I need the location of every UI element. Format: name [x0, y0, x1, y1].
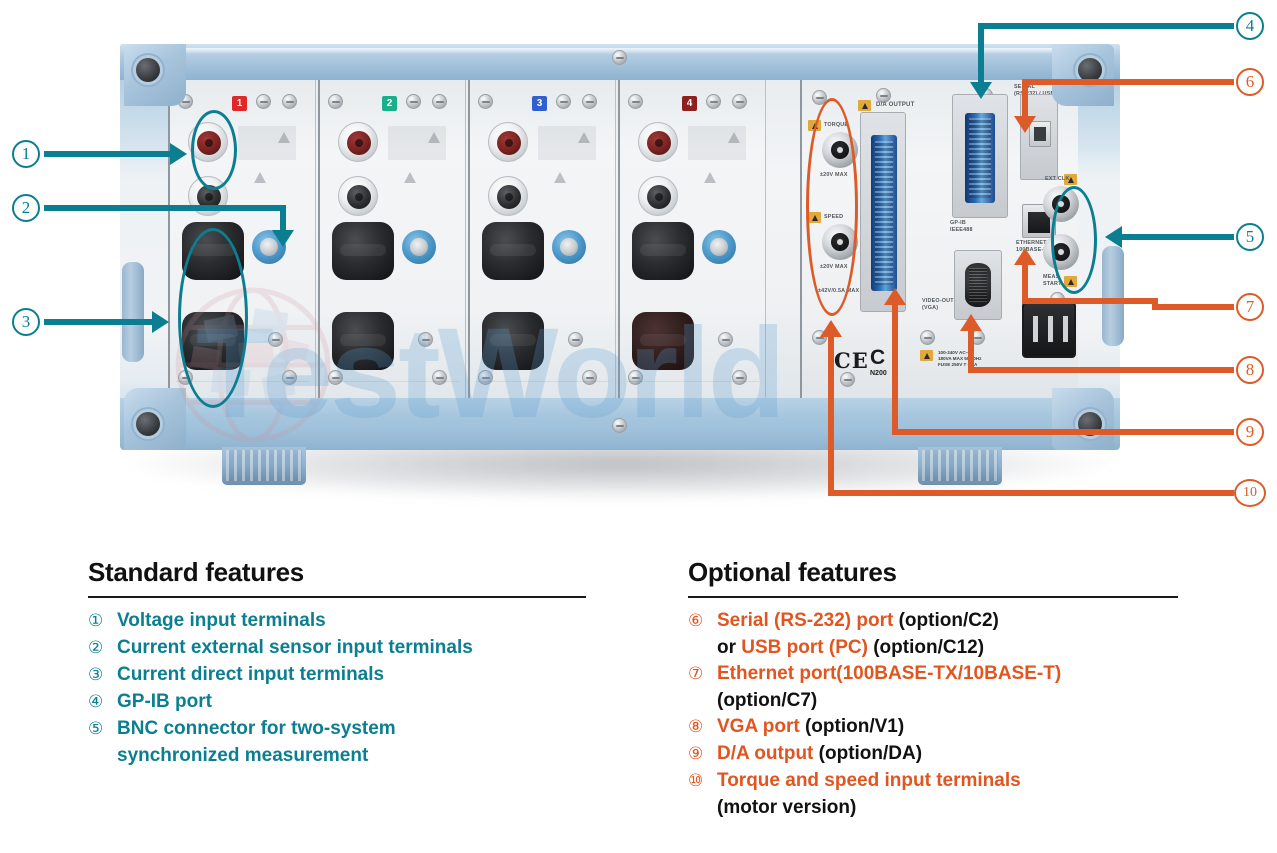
- screw-icon: [478, 370, 493, 385]
- current-direct-input-lo-2: [332, 312, 394, 370]
- leader-line-2a: [44, 205, 286, 211]
- warning-triangle-icon: [428, 132, 440, 143]
- screw-icon: [628, 370, 643, 385]
- list-opt-8: (option/V1): [800, 716, 904, 737]
- leader-arrow-4: [970, 82, 992, 99]
- leader-line-8b: [968, 330, 974, 373]
- callout-2: 2: [12, 194, 40, 222]
- screw-icon: [732, 370, 747, 385]
- list-item[interactable]: ⑩ Torque and speed input terminals: [688, 768, 1188, 794]
- callout-8: 8: [1236, 356, 1264, 384]
- highlight-ellipse-voltage: [191, 110, 237, 190]
- warning-triangle-icon: [404, 172, 416, 183]
- current-external-sensor-input-4: [702, 230, 736, 264]
- list-opt-6: (option/C2): [893, 610, 999, 631]
- caution-icon: [920, 350, 933, 361]
- list-marker-10: ⑩: [688, 768, 712, 794]
- chassis-handle-right: [1102, 246, 1124, 346]
- warning-triangle-icon: [704, 172, 716, 183]
- corner-screw-icon: [136, 58, 160, 82]
- leader-line-4b: [978, 23, 984, 85]
- ce-mark: CE: [834, 348, 869, 373]
- highlight-ellipse-torque-speed: [806, 98, 858, 316]
- list-text-6-pre: or: [717, 637, 741, 658]
- list-opt-6-usb: (option/C12): [868, 637, 984, 658]
- leader-line-7a: [1152, 304, 1234, 310]
- screw-icon: [840, 372, 855, 387]
- leader-arrow-7: [1014, 248, 1036, 265]
- callout-6: 6: [1236, 68, 1264, 96]
- leader-line-1: [44, 151, 172, 157]
- current-external-sensor-input-2: [402, 230, 436, 264]
- instrument-photo: 1 2: [0, 0, 1277, 545]
- leader-arrow-9: [884, 288, 906, 305]
- screw-icon: [582, 94, 597, 109]
- optional-features-column: Optional features ⑥ Serial (RS-232) port…: [688, 557, 1188, 821]
- leader-arrow-8: [960, 314, 982, 331]
- leader-arrow-3: [152, 311, 169, 333]
- voltage-terminal-lo-3: [488, 176, 528, 216]
- list-item[interactable]: ⑤ BNC connector for two-system: [88, 716, 588, 742]
- list-item[interactable]: ⑧ VGA port (option/V1): [688, 714, 1188, 740]
- chassis-handle-left: [122, 262, 144, 362]
- leader-line-7c: [1022, 298, 1158, 304]
- chassis-foot-left: [222, 447, 306, 485]
- channel-module-4: 4: [618, 80, 766, 398]
- list-item[interactable]: ② Current external sensor input terminal…: [88, 635, 588, 661]
- list-text-3: Current direct input terminals: [117, 662, 588, 688]
- voltage-terminal-hi-2: [338, 122, 378, 162]
- features-legend: Standard features ① Voltage input termin…: [0, 545, 1277, 853]
- leader-line-10a: [828, 490, 1234, 496]
- list-text-8: VGA port: [717, 716, 800, 737]
- channel-badge-2: 2: [382, 96, 397, 111]
- list-text-7: Ethernet port(100BASE-TX/10BASE-T): [717, 661, 1188, 687]
- voltage-terminal-lo-2: [338, 176, 378, 216]
- list-item[interactable]: ① Voltage input terminals: [88, 608, 588, 634]
- ext-clk-label: EXT CLK: [1045, 176, 1069, 183]
- da-output-connector: [860, 112, 906, 312]
- screw-icon: [876, 88, 891, 103]
- channel-badge-4: 4: [682, 96, 697, 111]
- callout-9: 9: [1236, 418, 1264, 446]
- channel-module-3: 3: [468, 80, 616, 398]
- callout-4: 4: [1236, 12, 1264, 40]
- list-opt-9: (option/DA): [813, 743, 922, 764]
- list-opt-7: (option/C7): [717, 688, 1188, 714]
- leader-line-2b: [280, 205, 286, 233]
- screw-icon: [628, 94, 643, 109]
- list-text-5: BNC connector for two-system: [117, 716, 588, 742]
- leader-line-7d: [1022, 264, 1028, 304]
- standard-features-column: Standard features ① Voltage input termin…: [88, 557, 588, 769]
- voltage-terminal-hi-4: [638, 122, 678, 162]
- list-text-6-usb: USB port (PC): [741, 637, 868, 658]
- list-marker-6: ⑥: [688, 608, 712, 634]
- voltage-terminal-lo-4: [638, 176, 678, 216]
- warning-triangle-icon: [728, 132, 740, 143]
- list-text-4: GP-IB port: [117, 689, 588, 715]
- current-direct-input-lo-4: [632, 312, 694, 370]
- callout-5: 5: [1236, 223, 1264, 251]
- list-marker-1: ①: [88, 608, 112, 634]
- callout-7: 7: [1236, 293, 1264, 321]
- screw-icon: [282, 370, 297, 385]
- list-marker-9: ⑨: [688, 741, 712, 767]
- chassis-corner-bottom-right: [1052, 388, 1114, 450]
- ctick-number: N200: [870, 370, 887, 377]
- screw-icon: [406, 94, 421, 109]
- list-text-6: Serial (RS-232) port: [717, 610, 893, 631]
- list-item[interactable]: ③ Current direct input terminals: [88, 662, 588, 688]
- screw-icon: [612, 50, 627, 65]
- chassis-corner-top-left: [124, 44, 186, 106]
- leader-arrow-10: [820, 320, 842, 337]
- screw-icon: [432, 94, 447, 109]
- screw-icon: [556, 94, 571, 109]
- warning-triangle-icon: [278, 132, 290, 143]
- callout-1: 1: [12, 140, 40, 168]
- current-external-sensor-input-3: [552, 230, 586, 264]
- leader-arrow-6: [1014, 116, 1036, 133]
- screw-icon: [478, 94, 493, 109]
- leader-arrow-1: [170, 143, 187, 165]
- leader-line-9b: [892, 304, 898, 435]
- list-item[interactable]: ⑥ Serial (RS-232) port (option/C2): [688, 608, 1188, 634]
- leader-line-4a: [978, 23, 1234, 29]
- warning-triangle-icon: [254, 172, 266, 183]
- list-marker-7: ⑦: [688, 661, 712, 687]
- leader-line-9a: [892, 429, 1234, 435]
- warning-triangle-icon: [578, 132, 590, 143]
- screw-icon: [612, 418, 627, 433]
- optional-features-title: Optional features: [688, 557, 1188, 588]
- list-item-6-line2[interactable]: or USB port (PC) (option/C12): [717, 635, 1188, 661]
- leader-arrow-5: [1105, 226, 1122, 248]
- list-item[interactable]: ④ GP-IB port: [88, 689, 588, 715]
- leader-line-6a: [1022, 79, 1234, 85]
- list-opt-10: (motor version): [717, 795, 1188, 821]
- screw-icon: [732, 94, 747, 109]
- list-marker-3: ③: [88, 662, 112, 688]
- standard-features-title: Standard features: [88, 557, 588, 588]
- list-text-10: Torque and speed input terminals: [717, 768, 1188, 794]
- callout-10: 10: [1234, 479, 1266, 507]
- callout-3: 3: [12, 308, 40, 336]
- leader-line-3: [44, 319, 154, 325]
- warning-triangle-icon: [554, 172, 566, 183]
- list-text-5-line2: synchronized measurement: [117, 743, 588, 769]
- da-output-label: D/A OUTPUT: [876, 102, 914, 109]
- gpib-label: GP-IB IEEE488: [950, 220, 973, 234]
- caution-icon: [858, 100, 871, 111]
- screw-icon: [328, 370, 343, 385]
- vga-port-connector: [954, 250, 1002, 320]
- ac-power-inlet: [1022, 302, 1076, 358]
- leader-line-5: [1122, 234, 1234, 240]
- power-rating-label: 100-240V AC~ 180VA MAX 50/60Hz FUSE 250V…: [938, 350, 981, 368]
- screw-icon: [256, 94, 271, 109]
- standard-divider: [88, 596, 586, 598]
- chassis-corner-bottom-left: [124, 388, 186, 450]
- list-text-2: Current external sensor input terminals: [117, 635, 588, 661]
- channel-module-2: 2: [318, 80, 466, 398]
- list-marker-2: ②: [88, 635, 112, 661]
- chassis-foot-right: [918, 447, 1002, 485]
- screw-icon: [432, 370, 447, 385]
- optional-divider: [688, 596, 1178, 598]
- channel-badge-3: 3: [532, 96, 547, 111]
- screw-icon: [418, 332, 433, 347]
- chassis-corner-top-right: [1052, 44, 1114, 106]
- ctick-mark-icon: C: [870, 346, 886, 370]
- list-text-1: Voltage input terminals: [117, 608, 588, 634]
- screw-icon: [328, 94, 343, 109]
- screw-icon: [282, 94, 297, 109]
- leader-line-6b: [1022, 79, 1028, 119]
- screw-icon: [582, 370, 597, 385]
- screw-icon: [706, 94, 721, 109]
- list-text-9: D/A output: [717, 743, 813, 764]
- gpib-port-connector: [952, 94, 1008, 218]
- leader-line-10b: [828, 336, 834, 496]
- list-item[interactable]: ⑦ Ethernet port(100BASE-TX/10BASE-T): [688, 661, 1188, 687]
- list-marker-8: ⑧: [688, 714, 712, 740]
- screw-icon: [268, 332, 283, 347]
- current-direct-input-lo-3: [482, 312, 544, 370]
- leader-arrow-2: [272, 230, 294, 247]
- screw-icon: [920, 330, 935, 345]
- video-out-label: VIDEO-OUT (VGA): [922, 298, 954, 312]
- screw-icon: [568, 332, 583, 347]
- highlight-ellipse-current-direct: [178, 228, 248, 408]
- leader-line-8a: [968, 367, 1234, 373]
- current-direct-input-hi-3: [482, 222, 544, 280]
- corner-screw-icon: [136, 412, 160, 436]
- list-marker-4: ④: [88, 689, 112, 715]
- list-marker-5: ⑤: [88, 716, 112, 742]
- voltage-terminal-hi-3: [488, 122, 528, 162]
- channel-badge-1: 1: [232, 96, 247, 111]
- current-direct-input-hi-4: [632, 222, 694, 280]
- screw-icon: [718, 332, 733, 347]
- list-item[interactable]: ⑨ D/A output (option/DA): [688, 741, 1188, 767]
- current-direct-input-hi-2: [332, 222, 394, 280]
